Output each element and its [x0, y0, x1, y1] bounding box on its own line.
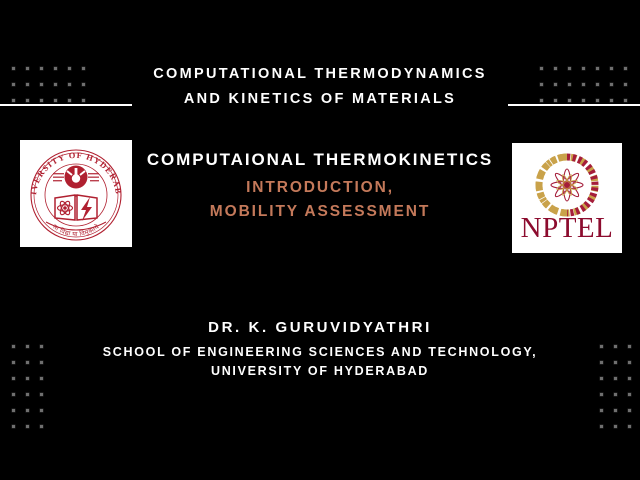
presenter-name: DR. K. GURUVIDYATHRI [0, 316, 640, 340]
lecture-subtitle-2: MOBILITY ASSESSMENT [140, 200, 500, 224]
presenter-affiliation-line1: SCHOOL OF ENGINEERING SCIENCES AND TECHN… [0, 343, 640, 362]
presenter-block: DR. K. GURUVIDYATHRI SCHOOL OF ENGINEERI… [0, 316, 640, 381]
university-of-hyderabad-logo: UNIVERSITY OF HYDERABAD सा विद्या या विम… [20, 140, 132, 247]
lecture-subtitle-1: INTRODUCTION, [140, 176, 500, 200]
presenter-affiliation-line2: UNIVERSITY OF HYDERABAD [0, 362, 640, 381]
course-header-line2: AND KINETICS OF MATERIALS [0, 87, 640, 112]
nptel-logo: NPTEL [512, 143, 622, 253]
lecture-title: COMPUTAIONAL THERMOKINETICS [140, 148, 500, 172]
presentation-slide: COMPUTATIONAL THERMODYNAMICS AND KINETIC… [0, 0, 640, 480]
course-header-line1: COMPUTATIONAL THERMODYNAMICS [0, 62, 640, 87]
nptel-wordmark: NPTEL [521, 212, 614, 244]
lecture-title-block: COMPUTAIONAL THERMOKINETICS INTRODUCTION… [140, 148, 500, 224]
course-header: COMPUTATIONAL THERMODYNAMICS AND KINETIC… [0, 62, 640, 112]
